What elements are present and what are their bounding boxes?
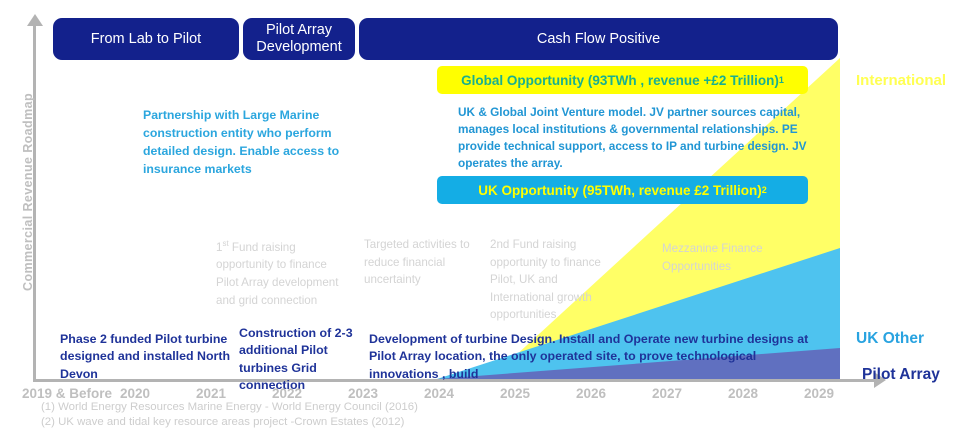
legend-pilot-array: Pilot Array xyxy=(862,366,940,384)
x-axis-tick-2022: 2022 xyxy=(272,386,302,401)
legend-uk-other: UK Other xyxy=(856,330,924,348)
footnote-2: (2) UK wave and tidal key resource areas… xyxy=(41,416,404,428)
x-axis-tick-2027: 2027 xyxy=(652,386,682,401)
text-targeted-activities: Targeted activities to reduce financial … xyxy=(364,236,482,289)
text-partnership: Partnership with Large Marine constructi… xyxy=(143,106,343,178)
y-axis-arrowhead-icon xyxy=(27,14,43,26)
x-axis-tick-2029: 2029 xyxy=(804,386,834,401)
x-axis-tick-2020: 2020 xyxy=(120,386,150,401)
x-axis-tick-2024: 2024 xyxy=(424,386,454,401)
x-axis-tick-2025: 2025 xyxy=(500,386,530,401)
x-axis-tick-2028: 2028 xyxy=(728,386,758,401)
y-axis-label: Commercial Revenue Roadmap xyxy=(21,82,35,302)
legend-international: International xyxy=(856,72,946,89)
text-fund-raising-1: 1st Fund raising opportunity to finance … xyxy=(216,238,346,309)
uk-opportunity-bar[interactable]: UK Opportunity (95TWh, revenue £2 Trilli… xyxy=(437,176,808,204)
phase-banner-lab-to-pilot[interactable]: From Lab to Pilot xyxy=(53,18,239,60)
phase-banner-label: Pilot Array Development xyxy=(243,22,355,55)
x-axis-tick-2026: 2026 xyxy=(576,386,606,401)
text-fund-raising-2: 2nd Fund raising opportunity to finance … xyxy=(490,236,624,324)
roadmap-chart: Commercial Revenue Roadmap From Lab to P… xyxy=(0,0,955,429)
phase-banner-label: Cash Flow Positive xyxy=(537,31,660,48)
x-axis-tick-2023: 2023 xyxy=(348,386,378,401)
text-fund-raising-1-value: 1st Fund raising opportunity to finance … xyxy=(216,241,338,307)
text-development: Development of turbine Design. Install a… xyxy=(369,331,829,383)
uk-opportunity-footnote-marker: 2 xyxy=(762,185,767,195)
global-opportunity-footnote-marker: 1 xyxy=(779,75,784,85)
phase-banner-label: From Lab to Pilot xyxy=(91,31,201,48)
text-phase-2-funded: Phase 2 funded Pilot turbine designed an… xyxy=(60,331,240,383)
text-mezzanine-finance: Mezzanine Finance Opportunities xyxy=(662,240,802,275)
phase-banner-pilot-array-development[interactable]: Pilot Array Development xyxy=(243,18,355,60)
uk-opportunity-label: UK Opportunity (95TWh, revenue £2 Trilli… xyxy=(478,183,762,198)
global-opportunity-bar[interactable]: Global Opportunity (93TWh , revenue +£2 … xyxy=(437,66,808,94)
global-opportunity-label: Global Opportunity (93TWh , revenue +£2 … xyxy=(461,73,779,88)
text-construction: Construction of 2-3 additional Pilot tur… xyxy=(239,325,369,394)
phase-banner-cash-flow-positive[interactable]: Cash Flow Positive xyxy=(359,18,838,60)
footnote-1: (1) World Energy Resources Marine Energy… xyxy=(41,401,418,413)
x-axis-tick-2021: 2021 xyxy=(196,386,226,401)
text-joint-venture: UK & Global Joint Venture model. JV part… xyxy=(458,104,808,172)
x-axis-tick-2019-before: 2019 & Before xyxy=(22,386,112,401)
